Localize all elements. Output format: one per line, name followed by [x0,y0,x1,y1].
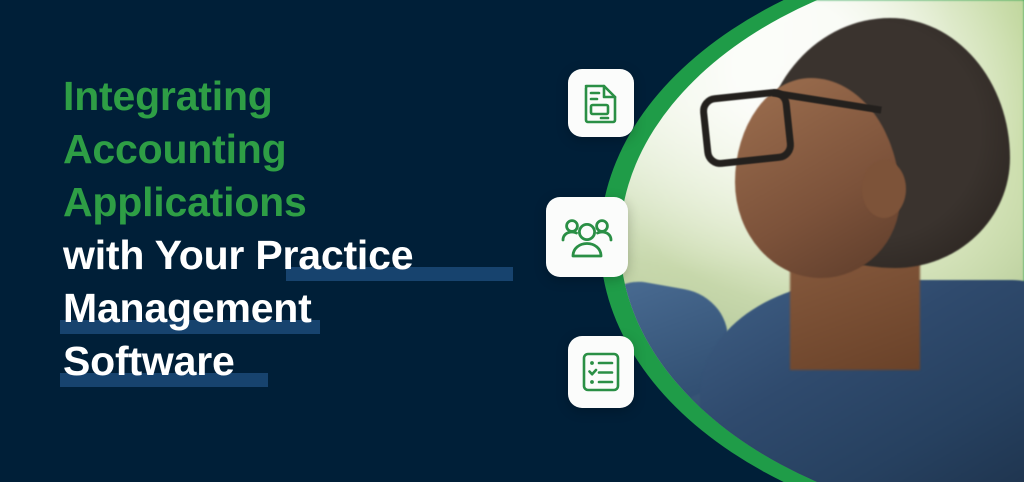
checklist-icon [580,350,622,394]
headline-line-3: Applications [63,176,583,229]
headline-line-6: Software [63,335,583,388]
headline-text-2: Accounting [63,126,286,172]
photo-clip-mask [620,0,1024,482]
headline-line-1: Integrating [63,70,583,123]
people-group-icon [561,215,613,259]
icon-card-checklist[interactable] [568,336,634,408]
headline-line-2: Accounting [63,123,583,176]
headline-text-3: Applications [63,179,307,225]
headline-line-5: Management [63,282,583,335]
headline-block: Integrating Accounting Applications with… [63,70,583,388]
hero-photo [620,0,1024,482]
headline-line-4: with Your Practice [63,229,583,282]
photo-eyeglasses [698,87,795,168]
document-invoice-icon [581,82,621,124]
headline-text-6: Software [63,338,235,384]
icon-card-document[interactable] [568,69,634,137]
headline-text-5: Management [63,285,312,331]
icon-card-people[interactable] [546,197,628,277]
photo-ear [862,160,906,218]
headline-text-1: Integrating [63,73,273,119]
hero-banner: Integrating Accounting Applications with… [0,0,1024,482]
headline-text-4: with Your Practice [63,232,413,278]
